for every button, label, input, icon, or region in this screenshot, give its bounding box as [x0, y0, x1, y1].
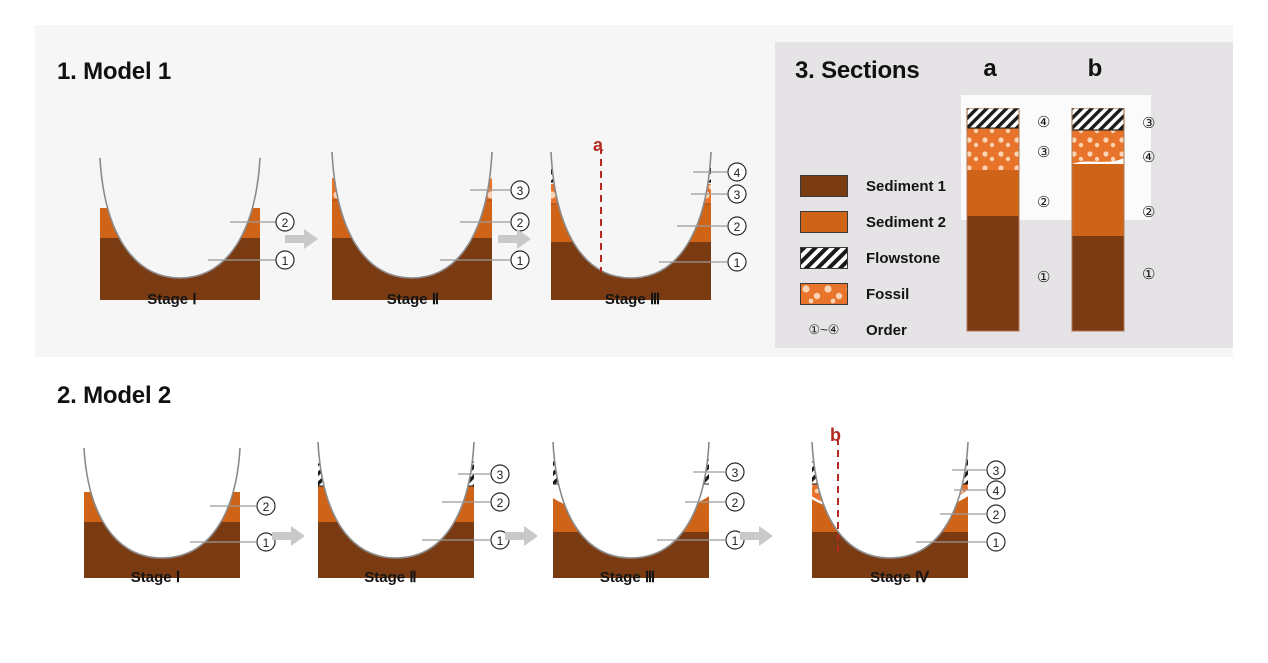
order-callout-2: 2 — [728, 217, 746, 235]
stage-label-m1-s3: Stage Ⅲ — [515, 290, 750, 308]
svg-text:1: 1 — [497, 534, 504, 548]
svg-text:1: 1 — [734, 256, 741, 270]
legend-label-order: Order — [866, 322, 907, 339]
unit-flowstone — [967, 108, 1019, 128]
legend-item-order: ①~④ Order — [800, 312, 946, 348]
section-a-order-4: ④ — [1037, 113, 1050, 131]
order-callout-2: 2 — [491, 493, 509, 511]
svg-text:2: 2 — [734, 220, 741, 234]
svg-text:4: 4 — [734, 166, 741, 180]
layer-sediment-2 — [543, 488, 719, 532]
order-callout-3: 3 — [726, 463, 744, 481]
svg-text:3: 3 — [734, 188, 741, 202]
section-a-order-1: ① — [1037, 268, 1050, 286]
swatch-sediment-2-icon — [800, 211, 848, 233]
stage-diagram-m2-s3: 3 2 1 Stage Ⅲ — [535, 440, 760, 580]
layer-flowstone-right — [908, 460, 978, 484]
section-b-order-1: ① — [1142, 265, 1155, 283]
figure-canvas: 1. Model 1 2. Model 2 3. Sections 2 1 — [0, 0, 1268, 663]
stage-label-m2-s4: Stage Ⅳ — [782, 568, 1017, 586]
stage-label-m2-s1: Stage Ⅰ — [48, 568, 263, 586]
section-b-order-2: ② — [1142, 203, 1155, 221]
svg-text:1: 1 — [993, 536, 1000, 550]
layer-flowstone-right — [647, 158, 717, 182]
svg-text:1: 1 — [732, 534, 739, 548]
unit-fossil — [967, 128, 1019, 170]
section-cut-label-a: a — [593, 135, 603, 156]
svg-text:1: 1 — [282, 254, 289, 268]
legend: Sediment 1 Sediment 2 Flowstone Fossil — [800, 168, 946, 348]
section-column-letter-b: b — [1065, 55, 1125, 83]
order-callout-3: 3 — [987, 461, 1005, 479]
svg-text:1: 1 — [517, 254, 524, 268]
stage-label-m2-s3: Stage Ⅲ — [515, 568, 740, 586]
page-title-sections: 3. Sections — [795, 57, 920, 85]
stage-label-m1-s1: Stage Ⅰ — [62, 290, 282, 308]
section-column-a — [965, 108, 1025, 333]
legend-item-flowstone: Flowstone — [800, 240, 946, 276]
order-callout-3: 3 — [491, 465, 509, 483]
stage-diagram-m2-s4: 3 4 2 1 Stage Ⅳ — [790, 440, 1025, 580]
unit-sediment-1 — [1072, 236, 1124, 331]
page-title-model-2: 2. Model 2 — [57, 382, 171, 410]
section-b-order-4: ④ — [1142, 148, 1155, 166]
order-callout-2: 2 — [726, 493, 744, 511]
order-callout-4: 4 — [987, 481, 1005, 499]
unit-sediment-2 — [967, 170, 1019, 216]
order-callout-2: 2 — [987, 505, 1005, 523]
flow-arrow-m2-2 — [505, 525, 539, 552]
swatch-flowstone-icon — [800, 247, 848, 269]
section-cut-label-b: b — [830, 425, 841, 446]
svg-text:2: 2 — [497, 496, 504, 510]
section-column-b — [1070, 108, 1130, 333]
order-callout-4: 4 — [728, 163, 746, 181]
swatch-order-icon: ①~④ — [800, 319, 848, 341]
legend-item-sediment-2: Sediment 2 — [800, 204, 946, 240]
layer-flowstone-left — [545, 160, 609, 182]
legend-label-flowstone: Flowstone — [866, 250, 940, 267]
unit-fossil — [1072, 130, 1124, 164]
stage-diagram-m1-s3: 4 3 2 1 Stage Ⅲ — [525, 150, 760, 310]
page-title-model-1: 1. Model 1 — [57, 58, 171, 86]
legend-item-sediment-1: Sediment 1 — [800, 168, 946, 204]
svg-text:3: 3 — [993, 464, 1000, 478]
layer-fossil — [310, 178, 540, 200]
svg-text:2: 2 — [263, 500, 270, 514]
unit-sediment-2 — [1072, 164, 1124, 236]
unit-sediment-1 — [967, 216, 1019, 331]
svg-text:2: 2 — [993, 508, 1000, 522]
swatch-sediment-1-icon — [800, 175, 848, 197]
stage-diagram-m1-s1: 2 1 Stage Ⅰ — [80, 150, 300, 310]
svg-text:3: 3 — [497, 468, 504, 482]
order-callout-1: 1 — [728, 253, 746, 271]
layer-flowstone-left — [802, 462, 866, 484]
order-callout-1: 1 — [987, 533, 1005, 551]
flow-arrow-m2-3 — [740, 525, 774, 552]
svg-text:3: 3 — [517, 184, 524, 198]
svg-text:1: 1 — [263, 536, 270, 550]
section-a-order-3: ③ — [1037, 143, 1050, 161]
swatch-fossil-icon — [800, 283, 848, 305]
layer-sediment-2 — [70, 492, 285, 522]
section-column-letter-a: a — [960, 55, 1020, 83]
svg-text:2: 2 — [732, 496, 739, 510]
unit-flowstone — [1072, 108, 1124, 130]
layer-fossil — [802, 480, 978, 513]
legend-label-sediment-1: Sediment 1 — [866, 178, 946, 195]
legend-label-fossil: Fossil — [866, 286, 909, 303]
legend-item-fossil: Fossil — [800, 276, 946, 312]
order-callout-2: 2 — [257, 497, 275, 515]
svg-text:3: 3 — [732, 466, 739, 480]
section-b-order-3: ③ — [1142, 114, 1155, 132]
stage-diagram-m2-s2: 3 2 1 Stage Ⅱ — [300, 440, 525, 580]
svg-text:4: 4 — [993, 484, 1000, 498]
stage-diagram-m2-s1: 2 1 Stage Ⅰ — [70, 440, 285, 580]
stage-label-m2-s2: Stage Ⅱ — [278, 568, 503, 586]
layer-sediment-2 — [800, 488, 978, 532]
stage-label-m1-s2: Stage Ⅱ — [298, 290, 528, 308]
order-callout-3: 3 — [728, 185, 746, 203]
legend-label-sediment-2: Sediment 2 — [866, 214, 946, 231]
section-a-order-2: ② — [1037, 193, 1050, 211]
